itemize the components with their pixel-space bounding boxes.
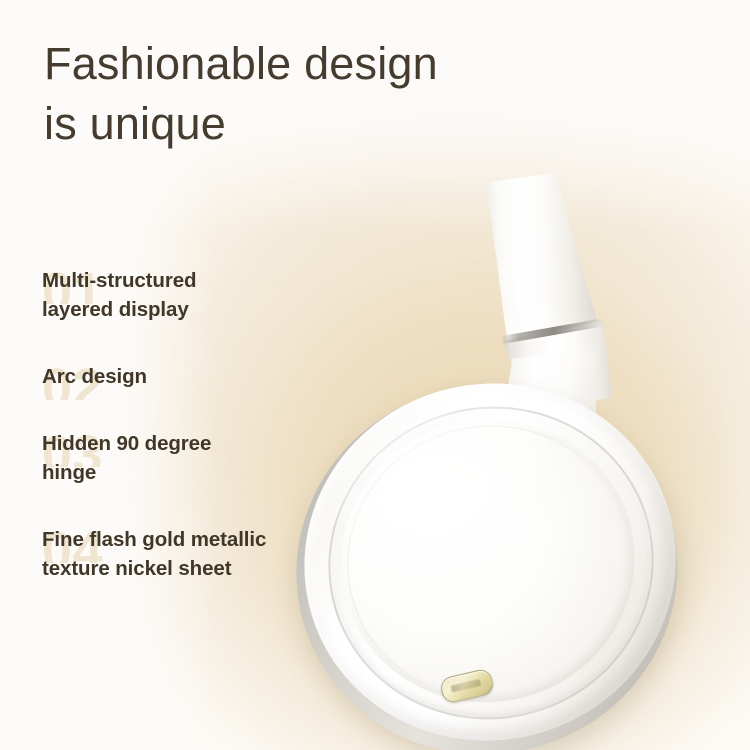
feature-label-04: Fine flash gold metallic texture nickel … <box>0 525 360 583</box>
feature-item-03: 03 Hidden 90 degree hinge <box>0 429 360 487</box>
feature-item-04: 04 Fine flash gold metallic texture nick… <box>0 525 360 583</box>
product-feature-page: Fashionable design is unique 01 Multi-st… <box>0 0 750 750</box>
feature-label-01: Multi-structured layered display <box>0 266 360 324</box>
feature-label-02: Arc design <box>0 362 360 391</box>
feature-item-01: 01 Multi-structured layered display <box>0 266 360 324</box>
feature-item-02: 02 Arc design <box>0 362 360 391</box>
feature-label-03: Hidden 90 degree hinge <box>0 429 360 487</box>
feature-list: 01 Multi-structured layered display 02 A… <box>0 228 360 595</box>
page-title: Fashionable design is unique <box>44 34 604 154</box>
